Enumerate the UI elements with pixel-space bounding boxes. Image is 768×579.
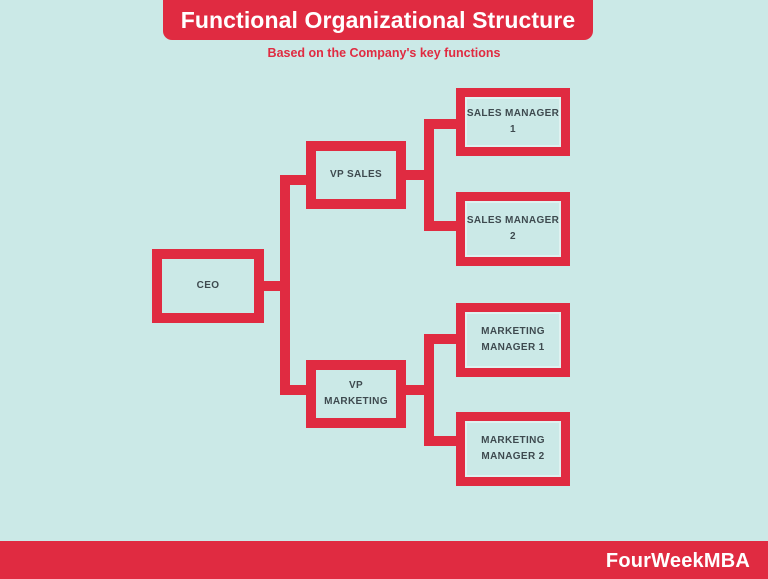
brand-logo: FourWeekMBA: [606, 550, 750, 573]
connector-ceo-trunk: [280, 175, 290, 395]
node-marketing-manager-1[interactable]: MARKETING MANAGER 1: [456, 303, 570, 377]
footer-bar: FourWeekMBA: [0, 541, 768, 579]
node-marketing-manager-1-label: MARKETING MANAGER 1: [481, 324, 545, 356]
connector-vp-sales-to-sales-manager-2: [424, 221, 460, 231]
node-vp-marketing[interactable]: VP MARKETING: [306, 360, 406, 428]
node-sales-manager-2[interactable]: SALES MANAGER 2: [456, 192, 570, 266]
page-subtitle: Based on the Company's key functions: [0, 46, 768, 60]
connector-vp-marketing-trunk: [424, 334, 434, 446]
node-vp-sales[interactable]: VP SALES: [306, 141, 406, 209]
node-marketing-manager-2[interactable]: MARKETING MANAGER 2: [456, 412, 570, 486]
connector-vp-sales-trunk: [424, 119, 434, 231]
node-sales-manager-2-label: SALES MANAGER 2: [465, 213, 561, 245]
title-banner: Functional Organizational Structure: [163, 0, 593, 40]
node-sales-manager-1-label: SALES MANAGER 1: [465, 106, 561, 138]
node-ceo[interactable]: CEO: [152, 249, 264, 323]
page-title: Functional Organizational Structure: [181, 7, 576, 34]
connector-vp-marketing-to-marketing-manager-2: [424, 436, 460, 446]
connector-vp-sales-to-sales-manager-1: [424, 119, 460, 129]
node-ceo-label: CEO: [197, 278, 220, 294]
node-vp-sales-label: VP SALES: [330, 167, 382, 183]
node-sales-manager-1[interactable]: SALES MANAGER 1: [456, 88, 570, 156]
node-marketing-manager-2-label: MARKETING MANAGER 2: [481, 433, 545, 465]
connector-vp-marketing-to-marketing-manager-1: [424, 334, 460, 344]
node-vp-marketing-label: VP MARKETING: [316, 378, 396, 410]
org-chart-infographic: Functional Organizational Structure Base…: [0, 0, 768, 579]
